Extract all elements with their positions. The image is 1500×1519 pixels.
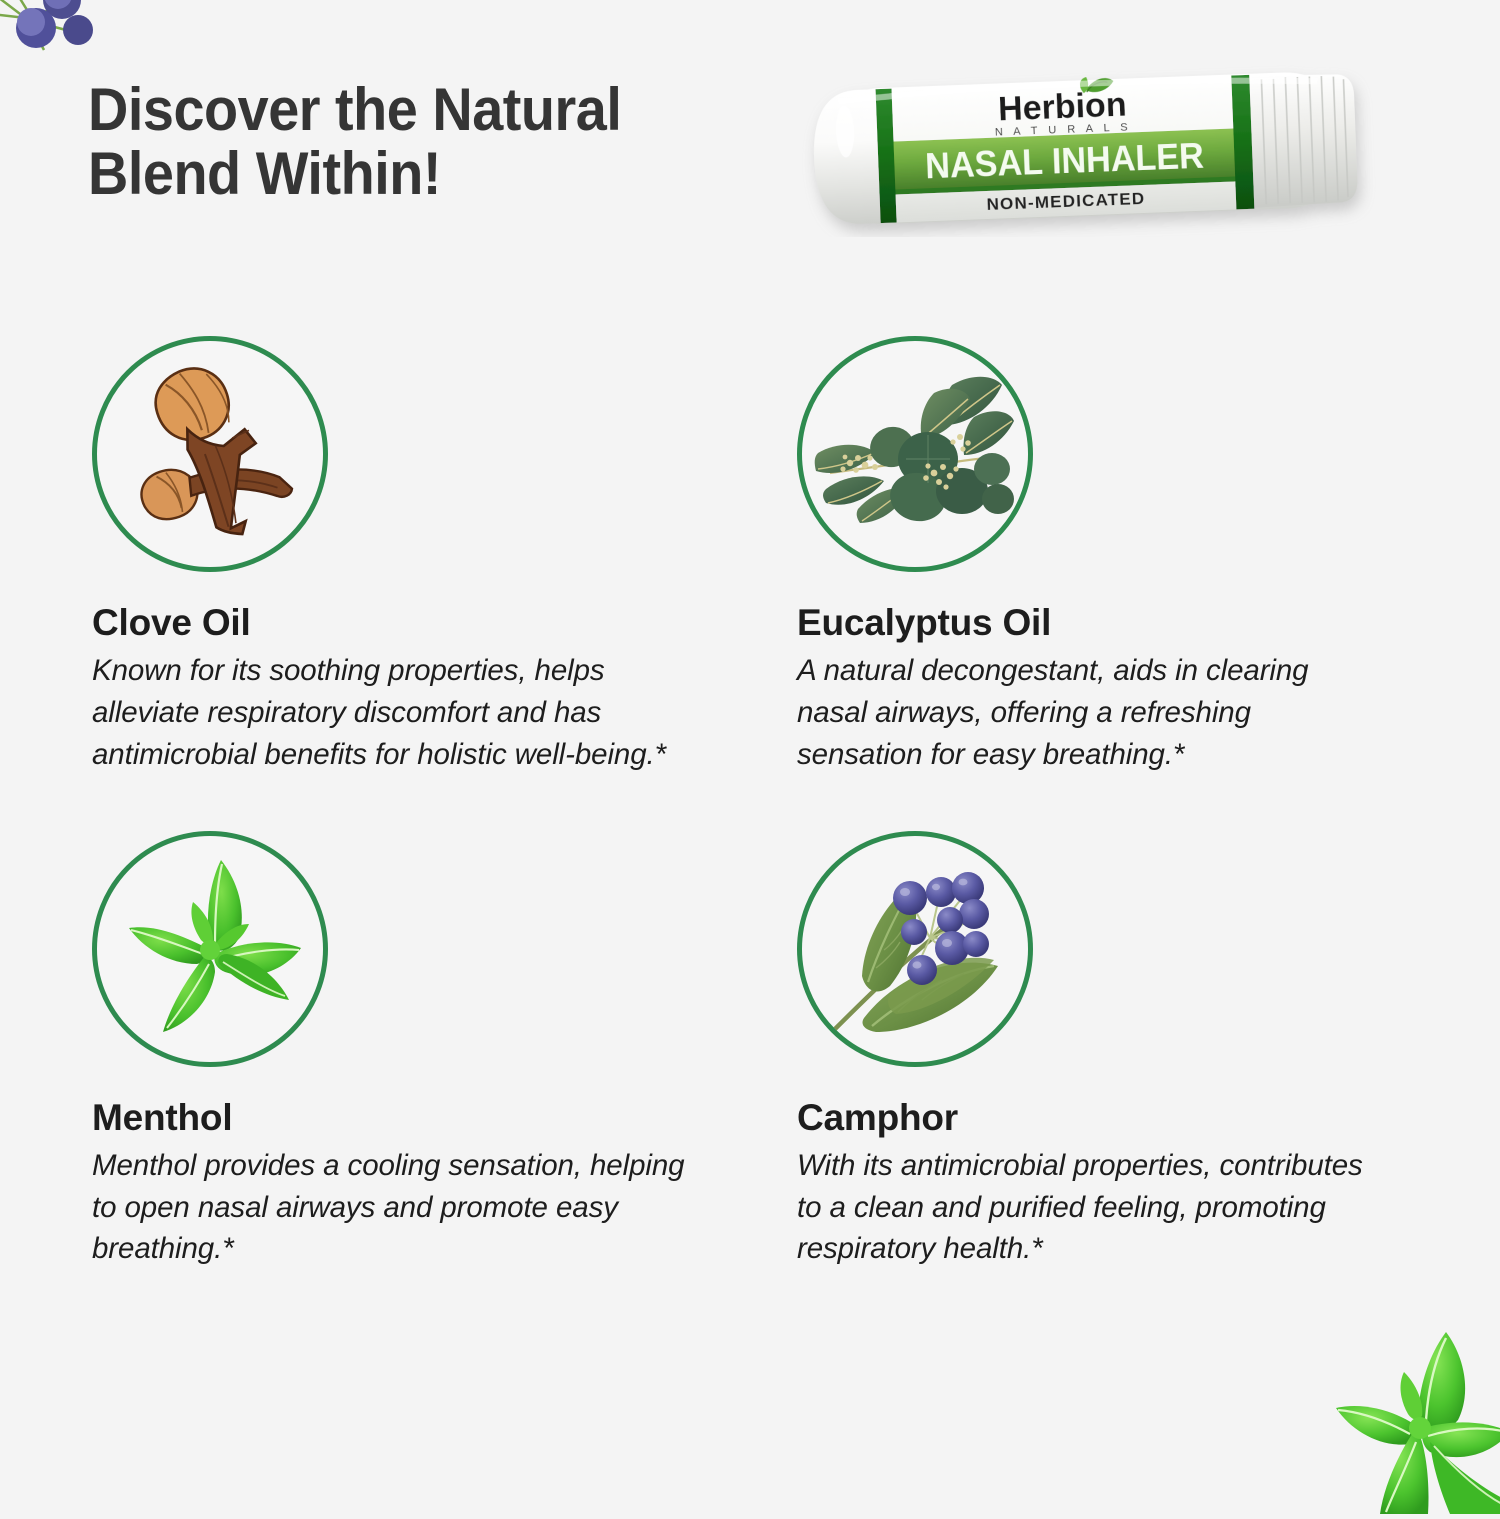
ingredient-title: Eucalyptus Oil	[797, 602, 1400, 644]
ingredient-description: A natural decongestant, aids in clearing…	[797, 650, 1377, 776]
camphor-berry-branch-icon	[797, 831, 1033, 1067]
ingredient-description: With its antimicrobial properties, contr…	[797, 1145, 1377, 1271]
headline-line-2: Blend Within!	[88, 140, 441, 207]
mint-leaves-icon	[92, 831, 328, 1067]
ingredient-row-2: Menthol Menthol provides a cooling sensa…	[0, 831, 1500, 1271]
headline-line-1: Discover the Natural	[88, 76, 621, 143]
ingredient-grid: Clove Oil Known for its soothing propert…	[0, 336, 1500, 1270]
page-title: Discover the Natural Blend Within!	[88, 78, 683, 205]
ingredient-title: Camphor	[797, 1097, 1400, 1139]
mint-sprig-icon	[1300, 1324, 1500, 1514]
product-image-nasal-inhaler: Herbion N A T U R A L S NASAL INHALER NO…	[800, 62, 1380, 237]
eucalyptus-branch-icon	[797, 336, 1033, 572]
clove-bud-icon	[92, 336, 328, 572]
ingredient-row-1: Clove Oil Known for its soothing propert…	[0, 336, 1500, 776]
